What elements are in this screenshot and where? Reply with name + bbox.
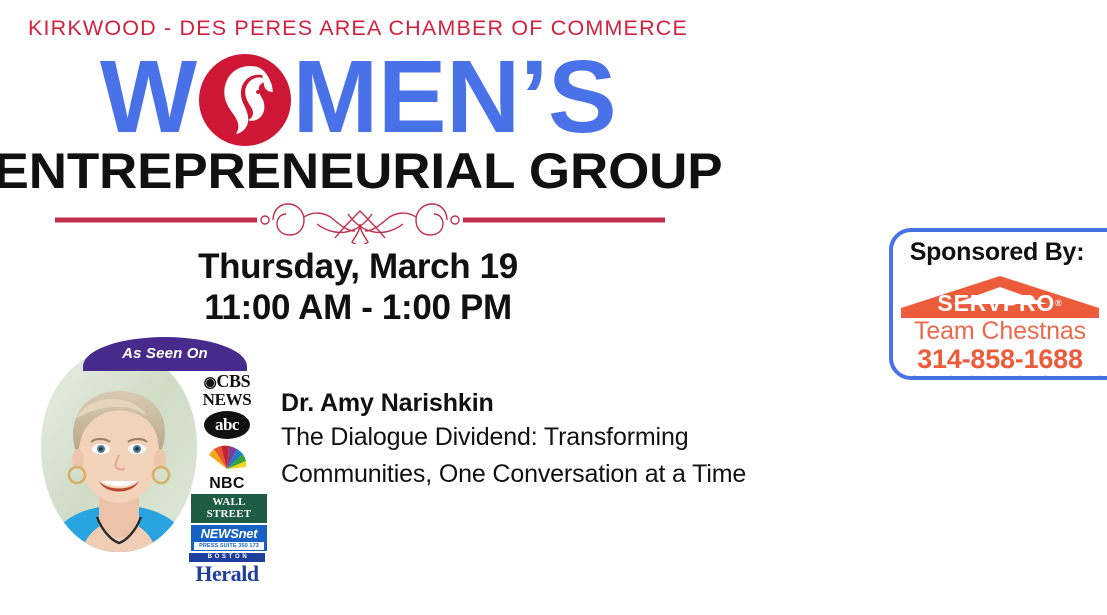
wall-street-journal-icon: WALL STREET — [191, 494, 267, 523]
servpro-roof-icon: SERVPRO® — [893, 276, 1107, 318]
speaker-block: Dr. Amy Narishkin The Dialogue Dividend:… — [281, 387, 881, 493]
newsnet-accent: net — [239, 526, 258, 541]
cbs-news-icon: ◉CBS NEWS — [189, 373, 265, 408]
wordmark-w: W — [100, 44, 197, 149]
servpro-team-label: Team Chestnas — [893, 318, 1107, 345]
media-outlet-logos: ◉CBS NEWS abc — [189, 373, 265, 586]
as-seen-on-panel: As Seen On ◉CBS NEWS abc — [41, 337, 265, 552]
news-net-icon: NEWSnet PRESS SUITE 350 173 — [191, 525, 267, 551]
nbc-label: NBC — [189, 476, 265, 492]
entrepreneurial-group-label: ENTREPRENEURIAL GROUP — [0, 142, 737, 200]
chamber-name: KIRKWOOD - DES PERES AREA CHAMBER OF COM… — [0, 16, 716, 41]
ornamental-divider — [55, 196, 665, 244]
abc-icon: abc — [189, 411, 265, 439]
woman-silhouette-icon — [197, 44, 293, 149]
event-time: 11:00 AM - 1:00 PM — [0, 287, 716, 328]
servpro-brand-label: SERVPRO — [937, 290, 1055, 316]
event-flyer: KIRKWOOD - DES PERES AREA CHAMBER OF COM… — [0, 0, 1107, 615]
sponsored-by-label: Sponsored By: — [893, 238, 1101, 267]
newsnet-label: NEWS — [201, 526, 239, 541]
speaker-headshot — [41, 349, 197, 552]
cbs-news-label: NEWS — [189, 392, 265, 408]
as-seen-on-label: As Seen On — [83, 337, 247, 371]
as-seen-on-banner: As Seen On — [83, 337, 247, 371]
event-date: Thursday, March 19 — [0, 246, 716, 287]
event-datetime: Thursday, March 19 11:00 AM - 1:00 PM — [0, 246, 716, 328]
newsnet-sub-label: PRESS SUITE 350 173 — [194, 542, 264, 550]
nbc-peacock-icon — [202, 441, 252, 471]
sponsor-badge: Sponsored By: SERVPRO® Team Chestnas 314… — [889, 228, 1107, 380]
servpro-ownership-note: Independently owned and operated — [893, 373, 1107, 380]
womens-wordmark: W MEN’S — [0, 44, 716, 152]
abc-label: abc — [204, 411, 250, 439]
talk-title-line-1: The Dialogue Dividend: Transforming — [281, 419, 881, 456]
cbs-label: CBS — [216, 371, 250, 391]
talk-title-line-2: Communities, One Conversation at a Time — [281, 456, 881, 493]
boston-herald-icon: BOSTON Herald — [189, 553, 265, 585]
nbc-icon: NBC — [189, 441, 265, 492]
servpro-phone[interactable]: 314-858-1688 — [893, 345, 1107, 373]
servpro-logo: SERVPRO® Team Chestnas 314-858-1688 Inde… — [893, 276, 1107, 380]
registered-mark: ® — [1055, 298, 1062, 308]
speaker-name: Dr. Amy Narishkin — [281, 387, 881, 419]
herald-label: Herald — [189, 562, 265, 585]
cbs-eye-icon: ◉ — [204, 375, 217, 391]
wordmark-mens: MEN’S — [293, 44, 617, 149]
